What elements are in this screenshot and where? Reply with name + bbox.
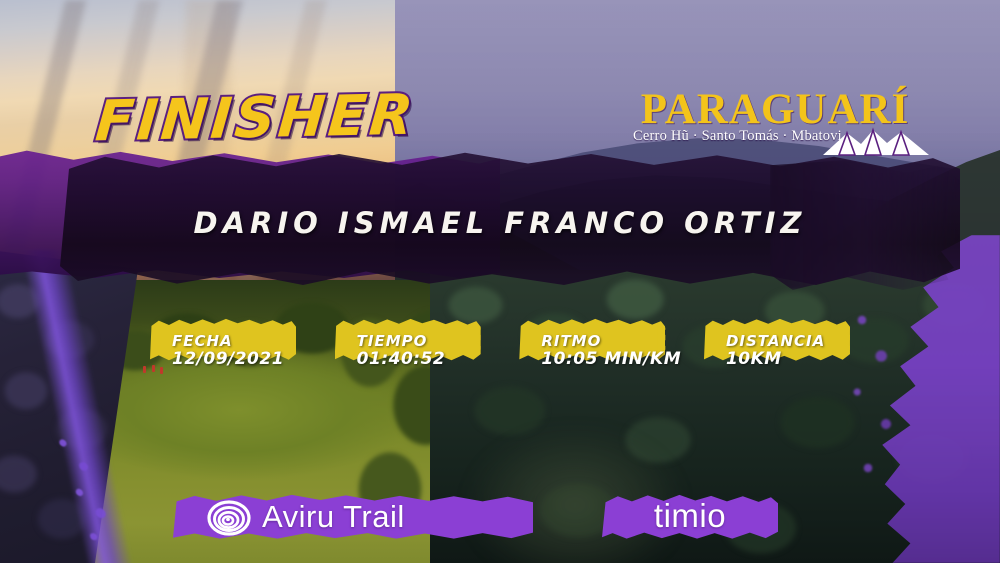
stat-chip-distancia: DISTANCIA 10KM [704, 318, 850, 380]
stat-value: 12/09/2021 [172, 350, 284, 370]
sponsor-content: Aviru Trail [173, 494, 533, 540]
sponsor-aviru-trail: Aviru Trail [173, 494, 533, 540]
spiral-shell-icon [207, 498, 251, 536]
stat-value: 10KM [726, 350, 825, 370]
stat-label: TIEMPO [357, 334, 446, 350]
stat-text-group: RITMO 10:05 MIN/KM [541, 334, 681, 369]
stat-text-group: TIEMPO 01:40:52 [357, 334, 446, 369]
stat-chip-tiempo: TIEMPO 01:40:52 [335, 318, 481, 380]
sponsor-timio-label: timio [602, 494, 778, 540]
finisher-headline: FINISHER [93, 83, 418, 155]
stat-label: RITMO [541, 334, 681, 350]
background-photo-collage [0, 0, 1000, 563]
event-logo-subtitle-row: Cerro Hũ · Santo Tomás · Mbatovi [625, 128, 925, 154]
stat-value: 10:05 MIN/KM [541, 350, 681, 370]
event-logo: PARAGUARÍ Cerro Hũ · Santo Tomás · Mbato… [625, 88, 925, 154]
finisher-certificate-card: FINISHER PARAGUARÍ Cerro Hũ · Santo Tomá… [0, 0, 1000, 563]
trail-runner-figure [143, 366, 146, 373]
sponsor-aviru-label: Aviru Trail [262, 499, 405, 535]
stat-chip-fecha: FECHA 12/09/2021 [150, 318, 296, 380]
stat-text-group: FECHA 12/09/2021 [172, 334, 284, 369]
sponsor-timio: timio [602, 494, 778, 540]
stat-chip-ritmo: RITMO 10:05 MIN/KM [519, 318, 665, 380]
stat-text-group: DISTANCIA 10KM [726, 334, 825, 369]
stat-label: DISTANCIA [726, 334, 825, 350]
stat-value: 01:40:52 [357, 350, 446, 370]
right-paint-spatter [844, 300, 904, 500]
stat-label: FECHA [172, 334, 284, 350]
stats-row: FECHA 12/09/2021 TIEMPO 01:40:52 RITMO 1… [150, 318, 850, 380]
mountain-icon [821, 124, 931, 156]
participant-name: DARIO ISMAEL FRANCO ORTIZ [0, 206, 1000, 240]
